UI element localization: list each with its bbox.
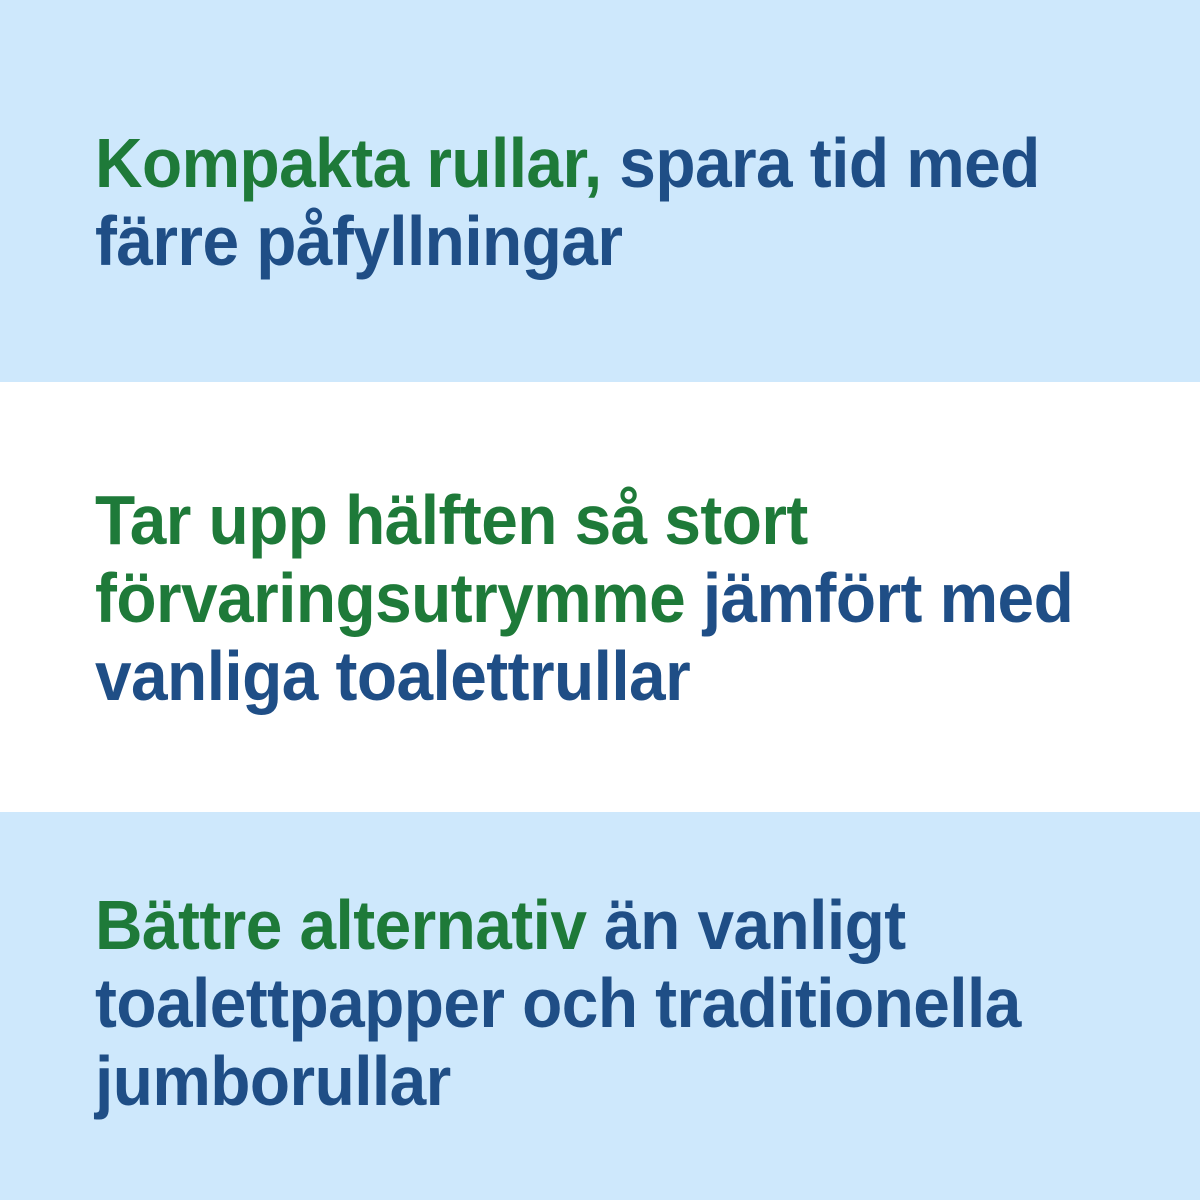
benefit-band-compact-rolls: Kompakta rullar, spara tid med färre påf… xyxy=(0,0,1200,382)
benefit-band-storage-space: Tar upp hälften så stort förvaringsutrym… xyxy=(0,382,1200,812)
headline-green-segment: Kompakta rullar, xyxy=(95,124,602,202)
benefit-headline-better-alternative: Bättre alternativ än vanligt toalettpapp… xyxy=(95,886,1077,1120)
benefit-headline-compact-rolls: Kompakta rullar, spara tid med färre påf… xyxy=(95,124,1077,280)
benefits-page: Kompakta rullar, spara tid med färre påf… xyxy=(0,0,1200,1200)
benefit-band-better-alternative: Bättre alternativ än vanligt toalettpapp… xyxy=(0,812,1200,1200)
headline-green-segment: Bättre alternativ xyxy=(95,886,586,964)
benefit-headline-storage-space: Tar upp hälften så stort förvaringsutrym… xyxy=(95,481,1077,715)
